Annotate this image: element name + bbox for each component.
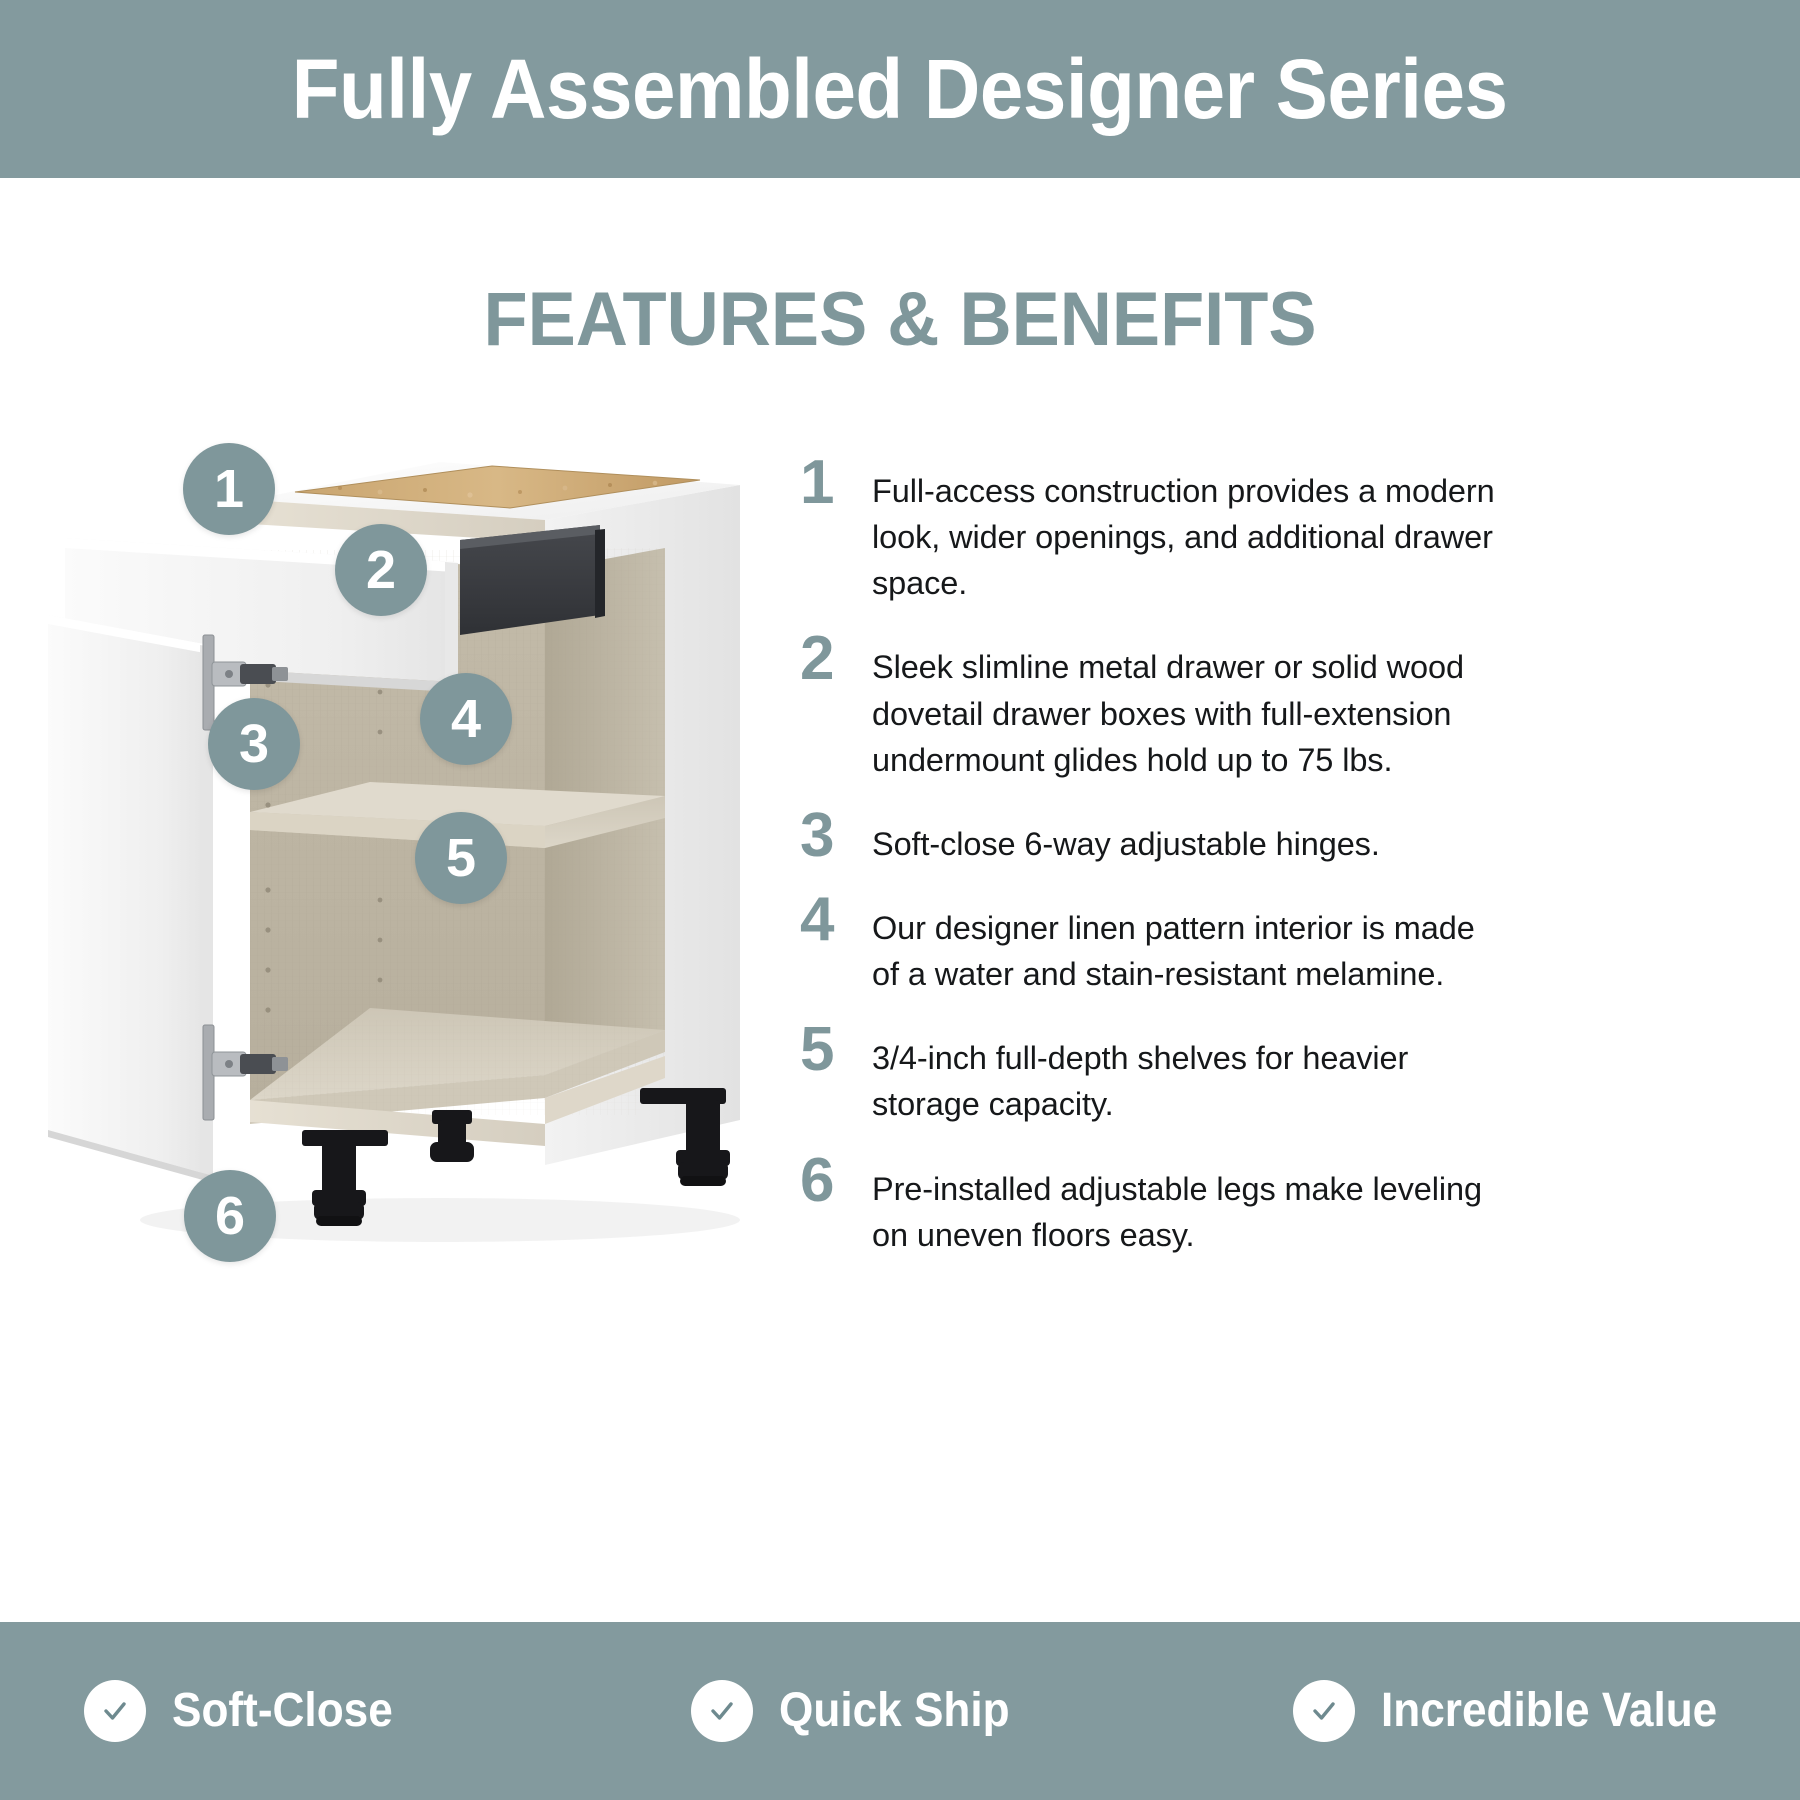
feature-item-4: 4 Our designer linen pattern interior is…: [800, 889, 1500, 997]
section-title: FEATURES & BENEFITS: [45, 278, 1755, 362]
page-title: Fully Assembled Designer Series: [292, 47, 1508, 131]
callout-3[interactable]: 3: [208, 698, 300, 790]
feature-text-5: 3/4-inch full-depth shelves for heavier …: [872, 1019, 1500, 1127]
feature-item-3: 3 Soft-close 6-way adjustable hinges.: [800, 805, 1500, 867]
callout-6[interactable]: 6: [184, 1170, 276, 1262]
feature-text-4: Our designer linen pattern interior is m…: [872, 889, 1500, 997]
footer-label-incredible-value: Incredible Value: [1381, 1687, 1717, 1735]
feature-item-6: 6 Pre-installed adjustable legs make lev…: [800, 1150, 1500, 1258]
feature-number-4: 4: [800, 889, 872, 950]
callout-2[interactable]: 2: [335, 524, 427, 616]
infographic-page: Fully Assembled Designer Series FEATURES…: [0, 0, 1800, 1800]
footer-label-quick-ship: Quick Ship: [779, 1687, 1010, 1735]
feature-text-3: Soft-close 6-way adjustable hinges.: [872, 805, 1500, 867]
feature-item-2: 2 Sleek slimline metal drawer or solid w…: [800, 628, 1500, 782]
feature-number-1: 1: [800, 452, 872, 513]
feature-number-6: 6: [800, 1150, 872, 1211]
callout-5[interactable]: 5: [415, 812, 507, 904]
feature-item-1: 1 Full-access construction provides a mo…: [800, 452, 1500, 606]
footer-item-incredible-value: Incredible Value: [1197, 1680, 1800, 1742]
feature-text-6: Pre-installed adjustable legs make level…: [872, 1150, 1500, 1258]
check-circle-icon: [84, 1680, 146, 1742]
callout-1[interactable]: 1: [183, 443, 275, 535]
callout-4[interactable]: 4: [420, 673, 512, 765]
features-list: 1 Full-access construction provides a mo…: [800, 452, 1500, 1280]
feature-number-2: 2: [800, 628, 872, 689]
header-bar: Fully Assembled Designer Series: [0, 0, 1800, 178]
footer-item-soft-close: Soft-Close: [0, 1680, 591, 1742]
feature-number-3: 3: [800, 805, 872, 866]
feature-text-1: Full-access construction provides a mode…: [872, 452, 1500, 606]
feature-text-2: Sleek slimline metal drawer or solid woo…: [872, 628, 1500, 782]
check-circle-icon: [1293, 1680, 1355, 1742]
feature-item-5: 5 3/4-inch full-depth shelves for heavie…: [800, 1019, 1500, 1127]
footer-item-quick-ship: Quick Ship: [591, 1680, 1198, 1742]
footer-label-soft-close: Soft-Close: [172, 1687, 393, 1735]
feature-number-5: 5: [800, 1019, 872, 1080]
check-circle-icon: [691, 1680, 753, 1742]
footer-bar: Soft-Close Quick Ship Incredible Value: [0, 1622, 1800, 1800]
